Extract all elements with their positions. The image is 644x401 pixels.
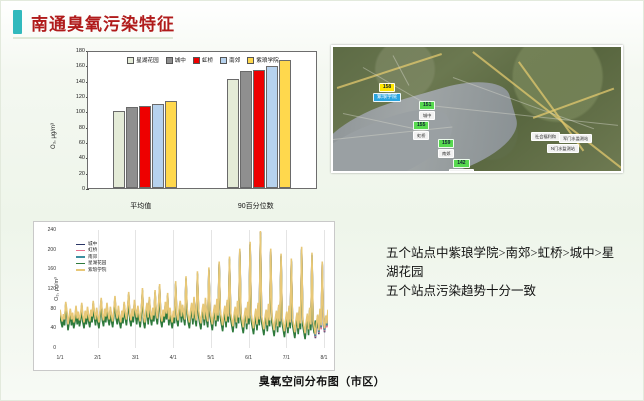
bar-chart-x-labels: 平均值90百分位数: [87, 201, 317, 211]
bar-chart-bars: [88, 52, 316, 188]
marker-label: 虹桥: [413, 131, 429, 140]
bar: [266, 66, 278, 188]
line-legend-item: 紫琅学院: [76, 267, 106, 273]
map-marker-紫琅学院[interactable]: 158紫琅学院: [373, 83, 401, 102]
slide-title-block: 南通臭氧污染特征: [13, 9, 175, 35]
line-legend-swatch: [76, 250, 85, 251]
ozone-spatial-map[interactable]: 158紫琅学院151城中155虹桥159南郊142星湖花园 社会福利和军门水监测…: [331, 45, 623, 173]
map-text-label: 社会福利和: [531, 132, 560, 141]
line-legend-swatch: [76, 244, 85, 245]
marker-label: 紫琅学院: [373, 93, 401, 102]
bar-chart-y-tick: 40: [53, 155, 85, 161]
line-chart-legend: 城中虹桥南郊星湖花园紫琅学院: [76, 241, 106, 273]
bar-chart-y-tick: 60: [53, 140, 85, 146]
marker-value: 155: [413, 121, 429, 130]
line-legend-swatch: [76, 269, 85, 270]
line-chart-y-tick: 160: [36, 266, 56, 272]
bar-chart-x-label: 平均值: [130, 201, 151, 211]
line-chart-x-tick: 4/1: [170, 355, 177, 361]
figure-caption: 臭氧空间分布图（市区）: [1, 373, 643, 389]
slide-canvas: 南通臭氧污染特征 O₃, μg/m³ 020406080100120140160…: [0, 0, 644, 401]
bar-group: [113, 52, 177, 188]
bar: [113, 111, 125, 188]
line-chart-y-tick: 80: [36, 306, 56, 312]
map-text-label: 军门水监测站: [559, 134, 592, 143]
bar-chart-y-tick: 100: [53, 109, 85, 115]
bar: [253, 70, 265, 188]
bar-chart-y-tick: 0: [53, 186, 85, 192]
line-chart-x-tick: 5/1: [207, 355, 214, 361]
line-legend-swatch: [76, 263, 85, 264]
line-chart-x-tick: 2/1: [94, 355, 101, 361]
bar: [126, 107, 138, 188]
line-chart-x-tick: 8/1: [320, 355, 327, 361]
marker-label: 星湖花园: [449, 169, 474, 173]
title-accent-bar: [13, 10, 22, 34]
map-marker-星湖花园[interactable]: 142星湖花园: [449, 159, 474, 173]
bar-chart-plot-area: 星湖花园城中虹桥南郊紫琅学院: [87, 51, 317, 189]
map-marker-虹桥[interactable]: 155虹桥: [413, 121, 429, 140]
annotation-line-1: 五个站点中紫琅学院>南郊>虹桥>城中>星: [386, 244, 626, 263]
line-chart-y-tick: 0: [36, 345, 56, 351]
line-chart-y-tick: 240: [36, 227, 56, 233]
marker-value: 142: [453, 159, 469, 168]
marker-label: 南郊: [438, 149, 454, 158]
bar-chart-y-tick: 80: [53, 125, 85, 131]
bar: [152, 104, 164, 188]
map-text-label: N门水监测站: [547, 144, 579, 153]
bar-group: [227, 52, 291, 188]
bar-chart-y-tick: 140: [53, 79, 85, 85]
line-chart-y-tick: 200: [36, 247, 56, 253]
bar-chart-y-tick: 120: [53, 94, 85, 100]
bar: [139, 106, 151, 188]
line-chart-x-tick: 1/1: [57, 355, 64, 361]
bar: [240, 71, 252, 188]
annotation-text: 五个站点中紫琅学院>南郊>虹桥>城中>星 湖花园 五个站点污染趋势十分一致: [386, 244, 626, 301]
ozone-timeseries-line-chart: O₃, μg/m³ 04080120160200240 1/12/13/14/1…: [33, 221, 335, 371]
title-divider: [13, 37, 173, 39]
marker-value: 158: [379, 83, 395, 92]
line-chart-x-tick: 6/1: [245, 355, 252, 361]
marker-value: 151: [419, 101, 435, 110]
marker-value: 159: [438, 139, 454, 148]
bar-chart-x-label: 90百分位数: [238, 201, 274, 211]
map-marker-城中[interactable]: 151城中: [419, 101, 435, 120]
line-legend-swatch: [76, 256, 85, 257]
bar-chart-y-tick: 160: [53, 63, 85, 69]
line-chart-x-tick: 3/1: [132, 355, 139, 361]
bar-chart-tick-mark: [86, 189, 89, 190]
line-legend-label: 紫琅学院: [88, 267, 106, 273]
map-marker-南郊[interactable]: 159南郊: [438, 139, 454, 158]
line-chart-plot-area: O₃, μg/m³ 04080120160200240 1/12/13/14/1…: [60, 230, 328, 348]
page-title: 南通臭氧污染特征: [31, 10, 175, 35]
ozone-station-bar-chart: O₃, μg/m³ 020406080100120140160180 星湖花园城…: [53, 47, 325, 219]
bar: [165, 101, 177, 188]
marker-label: 城中: [419, 111, 435, 120]
bar: [279, 60, 291, 188]
annotation-line-3: 五个站点污染趋势十分一致: [386, 282, 626, 301]
bar-chart-y-tick: 20: [53, 171, 85, 177]
line-chart-y-tick: 40: [36, 325, 56, 331]
line-chart-y-tick: 120: [36, 286, 56, 292]
bar: [227, 79, 239, 188]
bar-chart-y-tick: 180: [53, 48, 85, 54]
annotation-line-2: 湖花园: [386, 263, 626, 282]
line-chart-x-tick: 7/1: [283, 355, 290, 361]
